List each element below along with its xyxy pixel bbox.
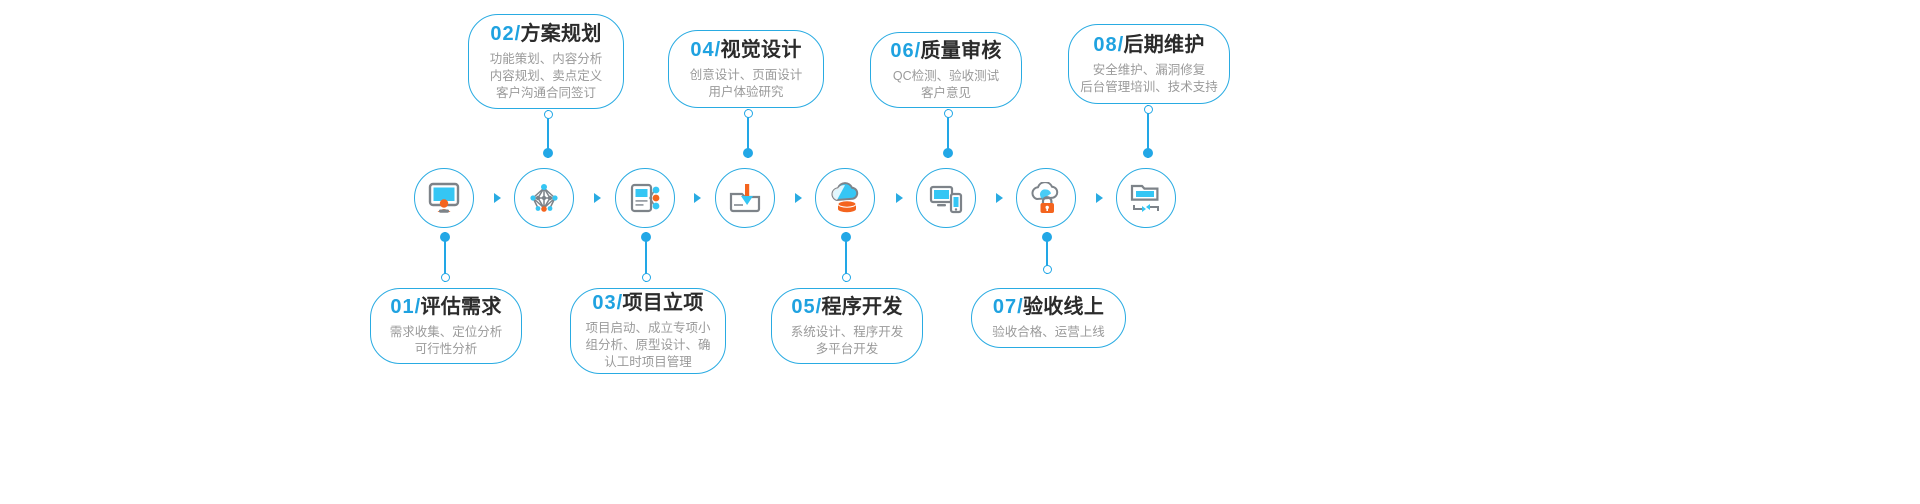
connector-dot-08: [1143, 148, 1153, 158]
step-desc-02-line-1: 功能策划、内容分析: [490, 51, 603, 68]
flow-arrow-6: [996, 193, 1003, 203]
connector-dot-01: [440, 232, 450, 242]
flow-arrow-2: [594, 193, 601, 203]
step-number-06: 06: [890, 40, 914, 62]
folder-transfer-icon: [1129, 182, 1163, 214]
connector-ring-08: [1144, 105, 1153, 114]
step-title-04: 04/视觉设计: [690, 37, 801, 64]
download-folder-icon: [728, 182, 762, 214]
step-card-07[interactable]: 07/验收线上 验收合格、运营上线: [971, 288, 1126, 348]
step-card-01[interactable]: 01/评估需求 需求收集、定位分析 可行性分析: [370, 288, 522, 364]
step-number-04: 04: [690, 39, 714, 61]
step-number-01: 01: [390, 296, 414, 318]
step-desc-03: 项目启动、成立专项小组分析、原型设计、确认工时项目管理: [585, 320, 711, 371]
cloud-lock-icon: [1029, 182, 1063, 214]
step-title-08: 08/后期维护: [1093, 32, 1204, 59]
connector-03: [641, 232, 651, 282]
step-desc-02-line-2: 内容规划、卖点定义: [490, 68, 603, 85]
step-card-04[interactable]: 04/视觉设计 创意设计、页面设计 用户体验研究: [668, 30, 824, 108]
document-share-icon: [628, 182, 662, 214]
step-icon-node-01[interactable]: [414, 168, 474, 228]
step-icon-node-08[interactable]: [1116, 168, 1176, 228]
step-icon-node-06[interactable]: [916, 168, 976, 228]
connector-ring-04: [744, 109, 753, 118]
step-desc-08-line-1: 安全维护、漏洞修复: [1093, 62, 1206, 79]
connector-ring-05: [842, 273, 851, 282]
step-desc-01-line-2: 可行性分析: [415, 341, 478, 358]
step-desc-04-line-2: 用户体验研究: [708, 84, 783, 101]
step-number-07: 07: [993, 296, 1017, 318]
step-card-03[interactable]: 03/项目立项 项目启动、成立专项小组分析、原型设计、确认工时项目管理: [570, 288, 726, 374]
step-title-01: 01/评估需求: [390, 294, 501, 321]
step-number-08: 08: [1093, 34, 1117, 56]
step-desc-04-line-1: 创意设计、页面设计: [690, 67, 803, 84]
connector-01: [440, 232, 450, 282]
process-flow-diagram: 02/方案规划 功能策划、内容分析 内容规划、卖点定义 客户沟通合同签订 04/…: [0, 0, 1920, 504]
connector-dot-05: [841, 232, 851, 242]
connector-ring-07: [1043, 265, 1052, 274]
connector-06: [943, 109, 953, 158]
step-number-05: 05: [791, 296, 815, 318]
connector-dot-04: [743, 148, 753, 158]
connector-07: [1042, 232, 1052, 274]
step-icon-node-03[interactable]: [615, 168, 675, 228]
flow-arrow-1: [494, 193, 501, 203]
step-desc-07-line-1: 验收合格、运营上线: [992, 324, 1105, 341]
connector-dot-03: [641, 232, 651, 242]
step-number-02: 02: [490, 23, 514, 45]
step-icon-node-07[interactable]: [1016, 168, 1076, 228]
step-title-07: 07/验收线上: [993, 294, 1104, 321]
step-card-05[interactable]: 05/程序开发 系统设计、程序开发 多平台开发: [771, 288, 923, 364]
multi-device-icon: [929, 182, 963, 214]
connector-ring-06: [944, 109, 953, 118]
step-icon-node-02[interactable]: [514, 168, 574, 228]
step-icon-node-04[interactable]: [715, 168, 775, 228]
connector-dot-02: [543, 148, 553, 158]
step-desc-05-line-1: 系统设计、程序开发: [791, 324, 904, 341]
flow-arrow-4: [795, 193, 802, 203]
connector-02: [543, 110, 553, 158]
step-desc-01-line-1: 需求收集、定位分析: [390, 324, 503, 341]
step-card-06[interactable]: 06/质量审核 QC检测、验收测试 客户意见: [870, 32, 1022, 108]
connector-dot-06: [943, 148, 953, 158]
step-title-05: 05/程序开发: [791, 294, 902, 321]
network-nodes-icon: [527, 182, 561, 214]
step-desc-05-line-2: 多平台开发: [816, 341, 879, 358]
connector-dot-07: [1042, 232, 1052, 242]
connector-08: [1143, 105, 1153, 158]
step-desc-06-line-2: 客户意见: [921, 85, 971, 102]
connector-ring-02: [544, 110, 553, 119]
flow-arrow-5: [896, 193, 903, 203]
step-desc-02-line-3: 客户沟通合同签订: [496, 85, 596, 102]
step-desc-06-line-1: QC检测、验收测试: [893, 68, 999, 85]
step-card-08[interactable]: 08/后期维护 安全维护、漏洞修复 后台管理培训、技术支持: [1068, 24, 1230, 104]
step-title-06: 06/质量审核: [890, 38, 1001, 65]
connector-ring-03: [642, 273, 651, 282]
connector-ring-01: [441, 273, 450, 282]
step-title-02: 02/方案规划: [490, 21, 601, 48]
flow-arrow-3: [694, 193, 701, 203]
monitor-user-icon: [427, 182, 461, 214]
cloud-database-icon: [828, 182, 862, 214]
step-icon-node-05[interactable]: [815, 168, 875, 228]
step-card-02[interactable]: 02/方案规划 功能策划、内容分析 内容规划、卖点定义 客户沟通合同签订: [468, 14, 624, 109]
step-number-03: 03: [592, 292, 616, 314]
connector-04: [743, 109, 753, 158]
step-title-03: 03/项目立项: [592, 290, 703, 317]
flow-arrow-7: [1096, 193, 1103, 203]
step-desc-08-line-2: 后台管理培训、技术支持: [1080, 79, 1218, 96]
connector-05: [841, 232, 851, 282]
